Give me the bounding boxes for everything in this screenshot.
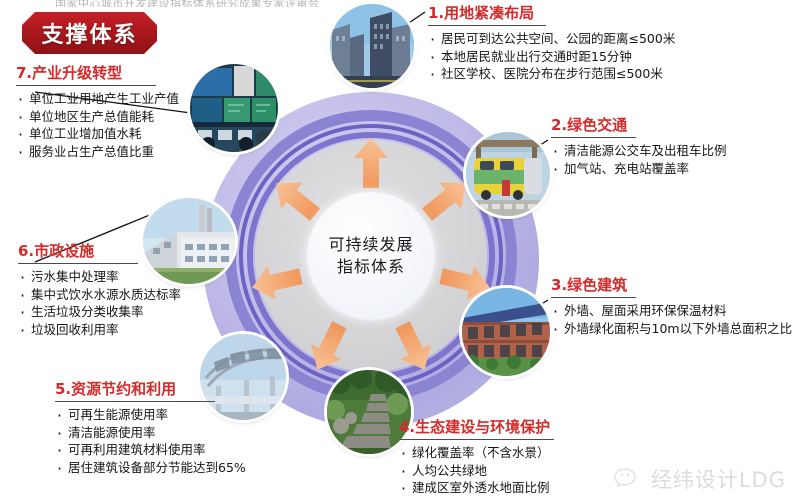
- list-item: 外墙绿化面积与10m以下外墙总面积之比: [551, 320, 800, 338]
- list-item: 居住建筑设备部分节能达到65%: [55, 459, 315, 477]
- section-list-3: 外墙、屋面采用环保保温材料 外墙绿化面积与10m以下外墙总面积之比: [551, 302, 800, 338]
- header-strip: 国家中心城市开发建设指标体系研究成果专家评审会: [55, 0, 375, 7]
- badge-label: 支撑体系: [41, 17, 137, 49]
- section-title-6: 6.市政设施: [18, 242, 258, 262]
- list-item: 污水集中处理率: [18, 268, 258, 286]
- section-rule-2: [551, 137, 636, 138]
- list-item: 清洁能源使用率: [55, 424, 315, 442]
- list-item: 单位地区生产总值能耗: [16, 108, 256, 126]
- section-title-1: 1.用地紧凑布局: [428, 4, 728, 24]
- section-list-5: 可再生能源使用率 清洁能源使用率 可再利用建筑材料使用率 居住建筑设备部分节能达…: [55, 406, 315, 477]
- bus-station-photo[interactable]: [466, 132, 550, 216]
- list-item: 单位工业用地产生工业产值: [16, 90, 256, 108]
- wechat-icon: [614, 467, 644, 491]
- list-item: 居民可到达公共空间、公园的距离≤500米: [428, 30, 728, 48]
- cityscape-photo[interactable]: [330, 4, 414, 88]
- list-item: 外墙、屋面采用环保保温材料: [551, 302, 800, 320]
- section-block-5: 5.资源节约和利用 可再生能源使用率 清洁能源使用率 可再利用建筑材料使用率 居…: [55, 380, 315, 477]
- section-rule-3: [551, 297, 636, 298]
- slide-canvas: 国家中心城市开发建设指标体系研究成果专家评审会 支撑体系: [0, 0, 800, 504]
- section-list-6: 污水集中处理率 集中式饮水水源水质达标率 生活垃圾分类收集率 垃圾回收利用率: [18, 268, 258, 339]
- section-rule-7: [16, 85, 156, 86]
- section-list-7: 单位工业用地产生工业产值 单位地区生产总值能耗 单位工业增加值水耗 服务业占生产…: [16, 90, 256, 161]
- section-title-4: 4.生态建设与环境保护: [399, 418, 679, 438]
- watermark: 经纬设计LDG: [614, 464, 786, 494]
- list-item: 社区学校、医院分布在步行范围≤500米: [428, 65, 728, 83]
- center-line-2: 指标体系: [337, 256, 405, 278]
- section-title-3: 3.绿色建筑: [551, 276, 800, 296]
- section-title-2: 2.绿色交通: [551, 116, 800, 136]
- section-list-2: 清洁能源公交车及出租车比例 加气站、充电站覆盖率: [551, 142, 800, 178]
- list-item: 绿化覆盖率（不含水景）: [399, 444, 679, 462]
- section-block-2: 2.绿色交通 清洁能源公交车及出租车比例 加气站、充电站覆盖率: [551, 116, 800, 177]
- list-item: 生活垃圾分类收集率: [18, 303, 258, 321]
- section-block-7: 7.产业升级转型 单位工业用地产生工业产值 单位地区生产总值能耗 单位工业增加值…: [16, 64, 256, 161]
- section-block-3: 3.绿色建筑 外墙、屋面采用环保保温材料 外墙绿化面积与10m以下外墙总面积之比: [551, 276, 800, 337]
- list-item: 可再生能源使用率: [55, 406, 315, 424]
- section-rule-1: [428, 25, 546, 26]
- list-item: 单位工业增加值水耗: [16, 125, 256, 143]
- list-item: 清洁能源公交车及出租车比例: [551, 142, 800, 160]
- section-block-6: 6.市政设施 污水集中处理率 集中式饮水水源水质达标率 生活垃圾分类收集率 垃圾…: [18, 242, 258, 339]
- section-rule-6: [18, 263, 138, 264]
- section-title-5: 5.资源节约和利用: [55, 380, 315, 400]
- section-rule-5: [55, 401, 215, 402]
- section-rule-4: [399, 439, 554, 440]
- list-item: 垃圾回收利用率: [18, 321, 258, 339]
- list-item: 可再利用建筑材料使用率: [55, 441, 315, 459]
- list-item: 集中式饮水水源水质达标率: [18, 286, 258, 304]
- center-line-1: 可持续发展: [328, 234, 413, 256]
- watermark-text: 经纬设计LDG: [651, 464, 786, 494]
- green-building-photo[interactable]: [462, 288, 550, 376]
- section-list-1: 居民可到达公共空间、公园的距离≤500米 本地居民就业出行交通时距15分钟 社区…: [428, 30, 728, 83]
- section-title-7: 7.产业升级转型: [16, 64, 256, 84]
- list-item: 加气站、充电站覆盖率: [551, 160, 800, 178]
- list-item: 本地居民就业出行交通时距15分钟: [428, 48, 728, 66]
- support-system-badge: 支撑体系: [22, 12, 157, 54]
- section-block-1: 1.用地紧凑布局 居民可到达公共空间、公园的距离≤500米 本地居民就业出行交通…: [428, 4, 728, 83]
- list-item: 服务业占生产总值比重: [16, 143, 256, 161]
- center-label: 可持续发展 指标体系: [307, 192, 435, 320]
